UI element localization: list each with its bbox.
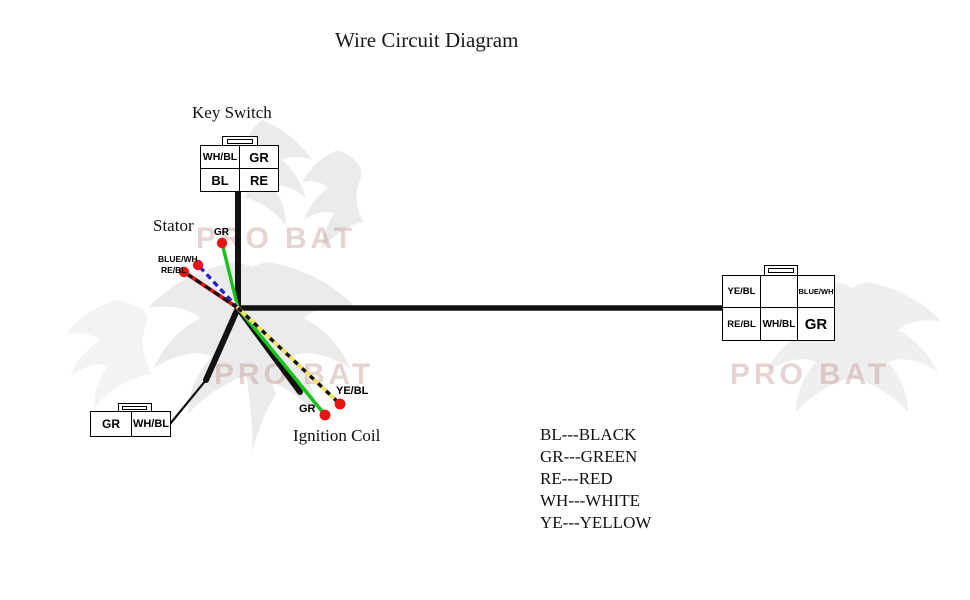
connector-tab-inner [122,406,147,410]
terminal-dot-coil-ye-bl [335,399,346,410]
lower-left-connector[interactable]: GR WH/BL [90,403,170,439]
wire-label-stator-gr: GR [214,228,229,238]
ignition-coil-label: Ignition Coil [293,426,380,446]
legend: BL---BLACK GR---GREEN RE---RED WH---WHIT… [540,424,651,534]
wire-coil-gr [238,308,325,415]
diagram-canvas: PRO BAT PRO BAT PRO BAT [0,0,970,600]
right-connector-cell-empty[interactable] [760,275,798,308]
key-switch-cell-bl[interactable]: BL [200,168,240,192]
connector-tab-inner [227,139,253,144]
key-switch-cell-gr[interactable]: GR [239,145,279,169]
wire-lowerleft-branch-thin [170,380,206,424]
terminal-dot-stator-gr [217,238,227,248]
right-connector-cell-re-bl[interactable]: RE/BL [722,307,761,341]
right-connector-cell-wh-bl[interactable]: WH/BL [760,307,798,341]
right-connector-cell-gr[interactable]: GR [797,307,835,341]
right-connector[interactable]: YE/BL BLUE/WH RE/BL WH/BL GR [722,265,835,343]
stator-label: Stator [153,216,194,236]
legend-item-wh: WH---WHITE [540,490,651,512]
wire-label-coil-gr: GR [299,404,316,415]
wire-label-stator-re-bl: RE/BL [161,266,187,275]
legend-item-ye: YE---YELLOW [540,512,651,534]
key-switch-cell-wh-bl[interactable]: WH/BL [200,145,240,169]
key-switch-label: Key Switch [192,103,272,123]
wire-lowerleft-branch-thick [206,308,238,380]
connector-tab-inner [768,268,794,273]
terminal-dot-coil-gr [320,410,331,421]
right-connector-cell-ye-bl[interactable]: YE/BL [722,275,761,308]
page-title: Wire Circuit Diagram [335,28,518,53]
key-switch-cell-re[interactable]: RE [239,168,279,192]
right-connector-cell-blue-wh[interactable]: BLUE/WH [797,275,835,308]
wire-label-coil-ye-bl: YE/BL [336,386,368,397]
legend-item-gr: GR---GREEN [540,446,651,468]
wire-label-stator-blue-wh: BLUE/WH [158,255,198,264]
lower-left-cell-wh-bl[interactable]: WH/BL [131,411,171,437]
legend-item-re: RE---RED [540,468,651,490]
legend-item-bl: BL---BLACK [540,424,651,446]
key-switch-connector[interactable]: WH/BL GR BL RE [200,136,280,194]
lower-left-cell-gr[interactable]: GR [90,411,132,437]
